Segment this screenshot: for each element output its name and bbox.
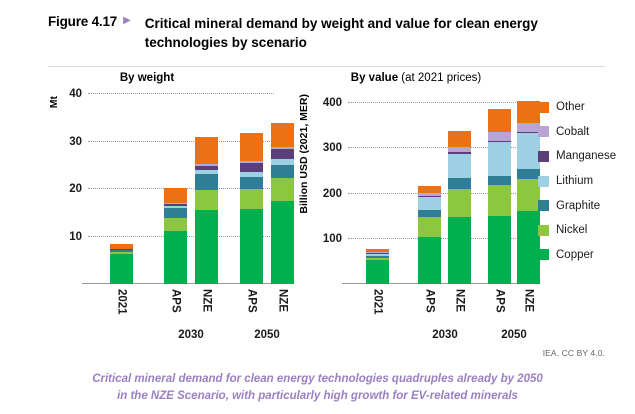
bar-segment-graphite[interactable]: [488, 176, 511, 184]
bar-by-weight-2[interactable]: NZE: [195, 137, 218, 284]
bar-segment-lithium[interactable]: [488, 142, 511, 176]
figure-header: Figure 4.17 ▶ Critical mineral demand by…: [48, 14, 605, 52]
page-title: Critical mineral demand by weight and va…: [145, 14, 565, 52]
bar-segment-other[interactable]: [195, 137, 218, 165]
y-axis-tick-label: 100: [323, 233, 342, 245]
bar-segment-copper[interactable]: [488, 216, 511, 284]
caption-line-1: Critical mineral demand for clean energy…: [60, 371, 575, 388]
legend-item-nickel[interactable]: Nickel: [538, 218, 633, 243]
figure-caption: Critical mineral demand for clean energy…: [60, 371, 575, 406]
legend-label: Cobalt: [556, 126, 589, 138]
plot-area-by-value: 1002003004002021APSNZEAPSNZE20302050: [348, 94, 518, 284]
y-axis-label-value: Billion USD (2021, MER): [298, 94, 310, 214]
bar-segment-other[interactable]: [164, 188, 187, 203]
chart-legend: OtherCobaltManganeseLithiumGraphiteNicke…: [538, 95, 633, 267]
y-axis-tick-label: 30: [69, 136, 82, 148]
bar-segment-manganese[interactable]: [240, 163, 263, 173]
x-axis-group-label: 2050: [481, 329, 547, 341]
bar-segment-graphite[interactable]: [164, 208, 187, 218]
legend-label: Nickel: [556, 224, 587, 236]
bar-segment-copper[interactable]: [271, 201, 294, 284]
x-axis-group-label: 2030: [412, 329, 478, 341]
bar-segment-copper[interactable]: [366, 260, 389, 284]
bar-segment-graphite[interactable]: [271, 165, 294, 178]
x-axis-tick-label: 2021: [372, 289, 384, 315]
bar-segment-copper[interactable]: [164, 231, 187, 284]
bar-segment-nickel[interactable]: [164, 218, 187, 231]
x-axis-tick-label: NZE: [277, 289, 289, 312]
y-axis-tick-label: 40: [69, 88, 82, 100]
triangle-right-icon: ▶: [123, 16, 131, 26]
legend-item-manganese[interactable]: Manganese: [538, 144, 633, 169]
bar-by-value-4[interactable]: NZE: [517, 101, 540, 284]
bar-segment-lithium[interactable]: [418, 197, 441, 210]
bar-segment-graphite[interactable]: [195, 174, 218, 190]
y-axis-tick-label: 400: [323, 97, 342, 109]
chart-by-value: By value (at 2021 prices) Billion USD (2…: [300, 70, 530, 345]
bar-segment-graphite[interactable]: [418, 210, 441, 217]
legend-label: Lithium: [556, 175, 593, 187]
legend-item-graphite[interactable]: Graphite: [538, 193, 633, 218]
bar-segment-copper[interactable]: [448, 217, 471, 284]
x-axis-tick-label: APS: [494, 289, 506, 313]
chart-title-main: By weight: [120, 72, 174, 84]
legend-swatch-icon: [538, 126, 549, 137]
bar-segment-copper[interactable]: [240, 209, 263, 284]
bar-segment-copper[interactable]: [110, 254, 133, 284]
bar-segment-graphite[interactable]: [448, 178, 471, 189]
x-axis-group-label: 2030: [158, 329, 224, 341]
bar-by-weight-0[interactable]: 2021: [110, 244, 133, 284]
legend-label: Other: [556, 101, 585, 113]
bar-segment-lithium[interactable]: [517, 133, 540, 169]
chart-title-suffix: (at 2021 prices): [401, 72, 481, 84]
legend-label: Manganese: [556, 150, 616, 162]
bar-by-weight-1[interactable]: APS: [164, 188, 187, 284]
bar-by-value-0[interactable]: 2021: [366, 249, 389, 284]
legend-swatch-icon: [538, 102, 549, 113]
bar-by-weight-4[interactable]: NZE: [271, 123, 294, 284]
y-axis-label-weight: Mt: [48, 96, 60, 108]
legend-swatch-icon: [538, 200, 549, 211]
y-axis-tick-label: 10: [69, 231, 82, 243]
legend-swatch-icon: [538, 176, 549, 187]
x-axis-group-label: 2050: [234, 329, 300, 341]
bar-segment-other[interactable]: [271, 123, 294, 147]
plot-area-by-weight: 102030402021APSNZEAPSNZE20302050: [88, 94, 274, 284]
y-axis-tick-label: 200: [323, 188, 342, 200]
legend-item-copper[interactable]: Copper: [538, 243, 633, 268]
legend-swatch-icon: [538, 249, 549, 260]
bar-segment-copper[interactable]: [418, 237, 441, 285]
chart-title-by-weight: By weight: [42, 72, 252, 84]
bar-segment-nickel[interactable]: [418, 217, 441, 236]
bar-by-value-1[interactable]: APS: [418, 186, 441, 284]
bar-segment-nickel[interactable]: [488, 185, 511, 217]
legend-label: Graphite: [556, 200, 600, 212]
chart-title-by-value: By value (at 2021 prices): [306, 72, 526, 84]
bar-segment-lithium[interactable]: [448, 154, 471, 178]
caption-line-2: in the NZE Scenario, with particularly h…: [60, 388, 575, 405]
x-axis-tick-label: APS: [170, 289, 182, 313]
x-axis-tick-label: 2021: [116, 289, 128, 315]
bar-segment-other[interactable]: [418, 186, 441, 193]
bar-segment-nickel[interactable]: [195, 190, 218, 210]
gridline: 400: [348, 102, 518, 103]
bar-segment-other[interactable]: [488, 109, 511, 133]
bar-segment-graphite[interactable]: [240, 177, 263, 188]
legend-item-cobalt[interactable]: Cobalt: [538, 120, 633, 145]
bar-segment-copper[interactable]: [195, 210, 218, 284]
x-axis-tick-label: APS: [246, 289, 258, 313]
bar-by-value-2[interactable]: NZE: [448, 131, 471, 284]
bar-segment-other[interactable]: [240, 133, 263, 162]
legend-swatch-icon: [538, 151, 549, 162]
bar-segment-nickel[interactable]: [448, 189, 471, 217]
bar-by-value-3[interactable]: APS: [488, 109, 511, 284]
bar-segment-cobalt[interactable]: [517, 123, 540, 131]
x-axis-tick-label: APS: [424, 289, 436, 313]
legend-item-other[interactable]: Other: [538, 95, 633, 120]
gridline: 40: [88, 93, 274, 94]
bar-segment-graphite[interactable]: [517, 169, 540, 179]
license-credit: IEA. CC BY 4.0.: [543, 348, 605, 358]
y-axis-tick-label: 20: [69, 183, 82, 195]
chart-title-main: By value: [351, 72, 398, 84]
bar-by-weight-3[interactable]: APS: [240, 133, 263, 285]
bar-segment-other[interactable]: [517, 101, 540, 124]
legend-label: Copper: [556, 249, 594, 261]
figure-number: Figure 4.17: [48, 14, 117, 29]
chart-by-weight: By weight Mt 102030402021APSNZEAPSNZE203…: [34, 70, 314, 345]
bar-segment-cobalt[interactable]: [488, 132, 511, 141]
bar-segment-nickel[interactable]: [517, 179, 540, 211]
bar-segment-manganese[interactable]: [271, 149, 294, 159]
bar-segment-nickel[interactable]: [271, 178, 294, 201]
x-axis-tick-label: NZE: [454, 289, 466, 312]
y-axis-tick-label: 300: [323, 142, 342, 154]
x-axis-tick-label: NZE: [201, 289, 213, 312]
header-divider: [48, 66, 605, 67]
legend-item-lithium[interactable]: Lithium: [538, 169, 633, 194]
legend-swatch-icon: [538, 225, 549, 236]
bar-segment-nickel[interactable]: [240, 189, 263, 209]
bar-segment-copper[interactable]: [517, 211, 540, 284]
bar-segment-other[interactable]: [448, 131, 471, 147]
x-axis-tick-label: NZE: [523, 289, 535, 312]
